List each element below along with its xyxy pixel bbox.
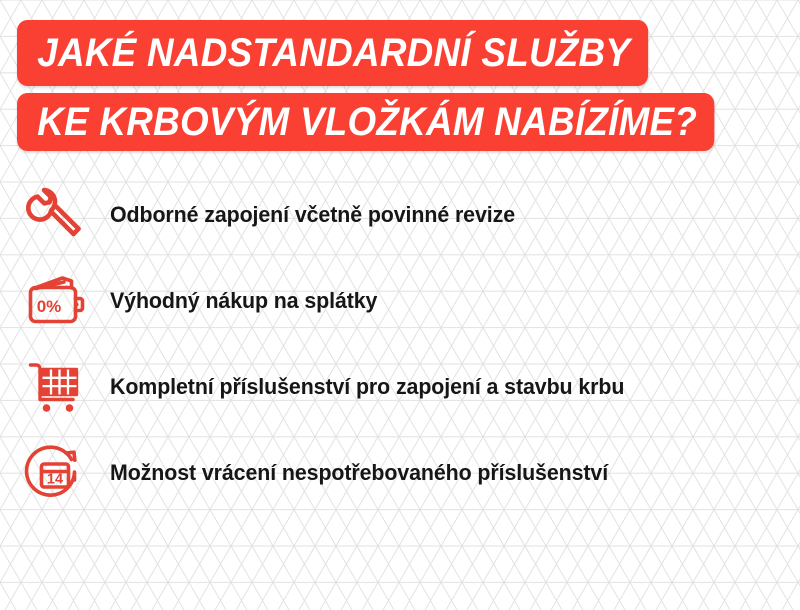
headline-line-2: KE KRBOVÝM VLOŽKÁM NABÍZÍME? xyxy=(17,93,715,151)
feature-label: Možnost vrácení nespotřebovaného přísluš… xyxy=(110,460,608,486)
feature-label: Kompletní příslušenství pro zapojení a s… xyxy=(110,374,624,400)
return-14-days-icon: 14 xyxy=(0,438,110,508)
wrench-icon xyxy=(0,180,110,250)
calendar-icon-text: 14 xyxy=(47,472,63,488)
feature-row: Kompletní příslušenství pro zapojení a s… xyxy=(0,344,800,430)
headline-line-1: JAKÉ NADSTANDARDNÍ SLUŽBY xyxy=(17,20,648,86)
feature-label: Odborné zapojení včetně povinné revize xyxy=(110,202,515,228)
shopping-cart-icon xyxy=(0,352,110,422)
feature-row: 14 Možnost vrácení nespotřebovaného přís… xyxy=(0,430,800,516)
feature-label: Výhodný nákup na splátky xyxy=(110,288,377,314)
headline-block: JAKÉ NADSTANDARDNÍ SLUŽBY KE KRBOVÝM VLO… xyxy=(17,20,775,151)
wallet-icon-text: 0% xyxy=(37,297,62,316)
feature-list: Odborné zapojení včetně povinné revize xyxy=(0,172,800,516)
feature-row: 0% Výhodný nákup na splátky xyxy=(0,258,800,344)
feature-row: Odborné zapojení včetně povinné revize xyxy=(0,172,800,258)
wallet-zero-percent-icon: 0% xyxy=(0,266,110,336)
